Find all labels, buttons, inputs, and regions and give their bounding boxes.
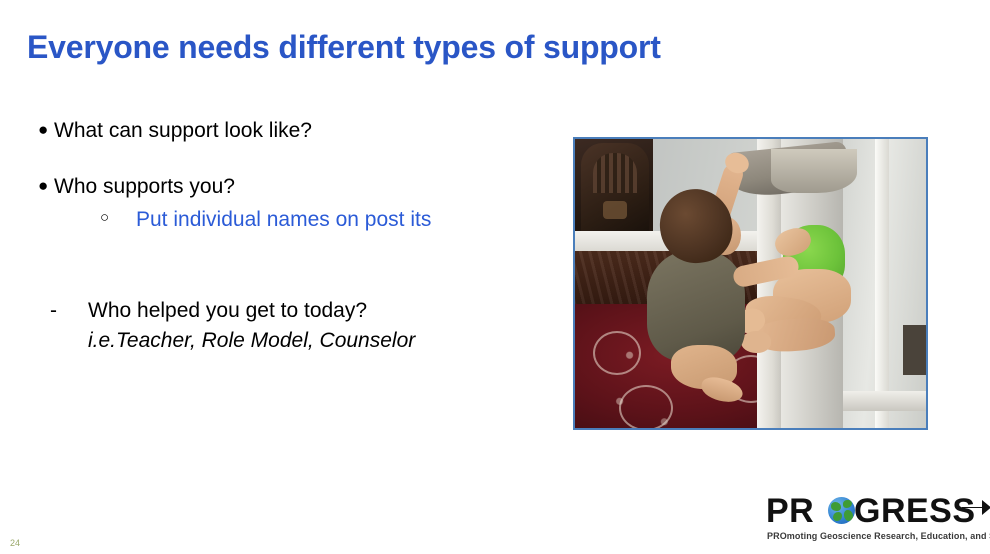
slide-number: 24 bbox=[10, 538, 20, 548]
dash-question: Who helped you get to today? bbox=[88, 297, 550, 324]
dash-bullet-icon: - bbox=[50, 297, 88, 324]
progress-logo: PR GRESS PROmoting Geoscience Research, … bbox=[766, 493, 988, 545]
list-item: ● What can support look like? bbox=[38, 118, 538, 144]
support-photo bbox=[573, 137, 928, 430]
dash-examples: i.e.Teacher, Role Model, Counselor bbox=[88, 327, 550, 354]
logo-wordmark: PR GRESS bbox=[766, 493, 988, 529]
logo-text-pre: PR bbox=[766, 493, 814, 529]
antique-radio bbox=[581, 143, 649, 235]
list-item: ● Who supports you? bbox=[38, 174, 538, 200]
globe-icon bbox=[828, 497, 855, 524]
dash-list-item: - Who helped you get to today? bbox=[50, 297, 550, 324]
circle-bullet-icon: ○ bbox=[100, 207, 136, 230]
slide: Everyone needs different types of suppor… bbox=[0, 0, 990, 554]
disc-bullet-icon: ● bbox=[38, 174, 54, 199]
list-item-sub-label: Put individual names on post its bbox=[136, 207, 538, 233]
disc-bullet-icon: ● bbox=[38, 118, 54, 143]
page-title: Everyone needs different types of suppor… bbox=[27, 28, 827, 66]
dash-block: - Who helped you get to today? i.e.Teach… bbox=[50, 297, 550, 355]
list-item-sub: ○ Put individual names on post its bbox=[100, 207, 538, 233]
photo-scene bbox=[575, 139, 926, 428]
list-item-label: Who supports you? bbox=[54, 174, 538, 200]
bullet-list: ● What can support look like? ● Who supp… bbox=[38, 118, 538, 233]
logo-tagline: PROmoting Geoscience Research, Education… bbox=[767, 531, 990, 541]
list-item-label: What can support look like? bbox=[54, 118, 538, 144]
logo-text-post: GRESS bbox=[854, 493, 976, 529]
